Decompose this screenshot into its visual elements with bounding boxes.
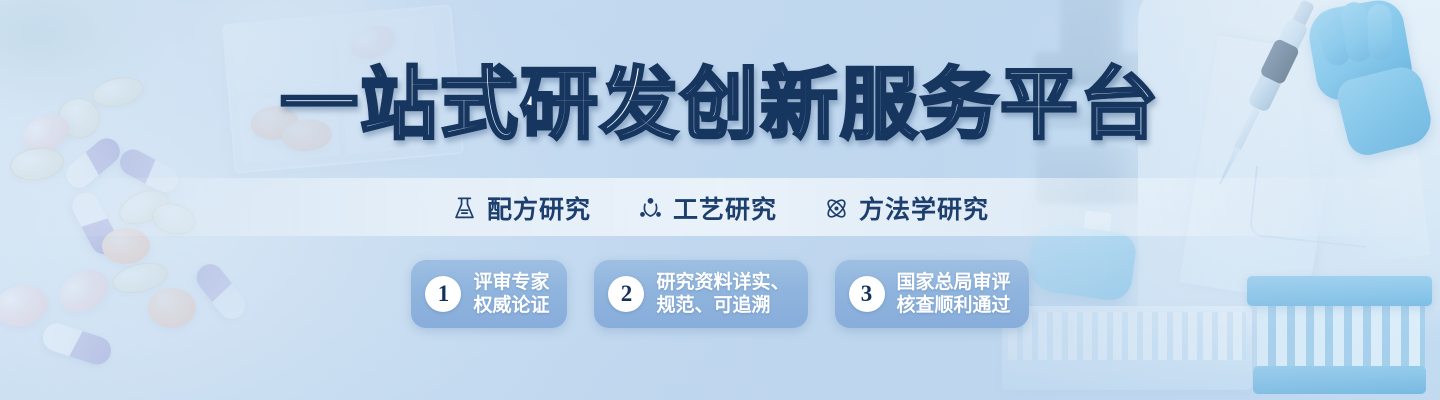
service-item-methodology[interactable]: 方法学研究 bbox=[823, 190, 989, 226]
service-list: 配方研究 工艺研究 bbox=[0, 186, 1440, 230]
feature-card-text: 国家总局审评 核查顺利通过 bbox=[897, 271, 1011, 317]
banner-title: 一站式研发创新服务平台 bbox=[0, 66, 1440, 144]
service-label: 配方研究 bbox=[487, 190, 591, 226]
feature-line-1: 国家总局审评 bbox=[897, 272, 1011, 293]
service-item-formulation[interactable]: 配方研究 bbox=[451, 190, 591, 226]
feature-line-2: 核查顺利通过 bbox=[897, 295, 1011, 316]
feature-line-2: 权威论证 bbox=[473, 295, 549, 316]
service-label: 工艺研究 bbox=[673, 190, 777, 226]
feature-card-2[interactable]: 2 研究资料详实、 规范、可追溯 bbox=[594, 260, 807, 328]
feature-card-1[interactable]: 1 评审专家 权威论证 bbox=[411, 260, 567, 328]
molecule-icon bbox=[637, 195, 664, 222]
feature-line-1: 评审专家 bbox=[473, 272, 549, 293]
flask-icon bbox=[451, 195, 478, 222]
feature-card-text: 研究资料详实、 规范、可追溯 bbox=[656, 271, 789, 317]
feature-card-list: 1 评审专家 权威论证 2 研究资料详实、 规范、可追溯 3 国家总局审评 核查… bbox=[0, 260, 1440, 328]
feature-number-badge: 2 bbox=[608, 276, 644, 312]
service-item-process[interactable]: 工艺研究 bbox=[637, 190, 777, 226]
promo-banner: 一站式研发创新服务平台 配方研究 bbox=[0, 0, 1440, 400]
service-label: 方法学研究 bbox=[859, 190, 989, 226]
atom-icon bbox=[823, 195, 850, 222]
feature-card-3[interactable]: 3 国家总局审评 核查顺利通过 bbox=[835, 260, 1029, 328]
banner-content: 一站式研发创新服务平台 配方研究 bbox=[0, 0, 1440, 400]
feature-line-1: 研究资料详实、 bbox=[656, 272, 789, 293]
feature-card-text: 评审专家 权威论证 bbox=[473, 271, 549, 317]
feature-number-badge: 3 bbox=[849, 276, 885, 312]
feature-line-2: 规范、可追溯 bbox=[656, 295, 770, 316]
feature-number-badge: 1 bbox=[425, 276, 461, 312]
